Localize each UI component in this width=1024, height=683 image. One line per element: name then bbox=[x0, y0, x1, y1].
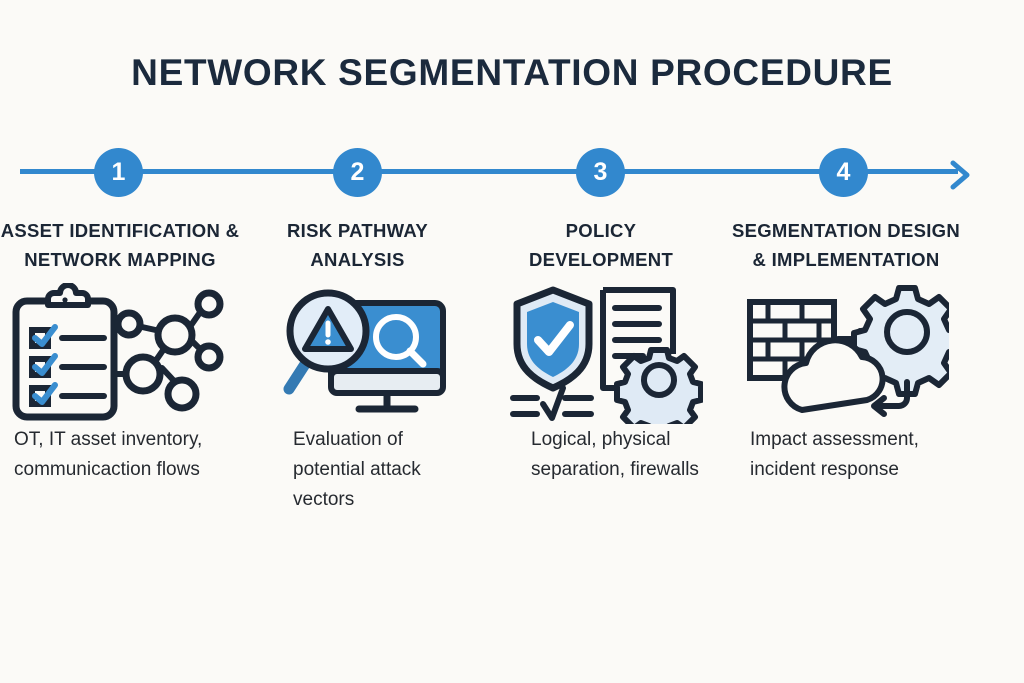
step-description-4: Impact assessment, incident response bbox=[730, 425, 962, 485]
step-marker-3[interactable]: 3 bbox=[576, 148, 625, 197]
step-column-4: SEGMENTATION DESIGN & IMPLEMENTATION bbox=[730, 216, 962, 485]
step-description-3: Logical, physical separation, firewalls bbox=[495, 425, 707, 485]
step-heading-1: ASSET IDENTIFICATION & NETWORK MAPPING bbox=[0, 216, 248, 274]
timeline-line bbox=[20, 169, 958, 174]
timeline: 1 2 3 4 bbox=[0, 160, 1024, 186]
firewall-cloud-gear-icon bbox=[730, 280, 962, 425]
step-marker-4[interactable]: 4 bbox=[819, 148, 868, 197]
step-description-1: OT, IT asset inventory, communicaction f… bbox=[0, 425, 248, 485]
step-description-2: Evaluation of potential attack vectors bbox=[255, 425, 460, 515]
step-heading-3: POLICY DEVELOPMENT bbox=[495, 216, 707, 274]
arrow-right-icon bbox=[948, 172, 978, 195]
step-marker-2[interactable]: 2 bbox=[333, 148, 382, 197]
step-column-1: ASSET IDENTIFICATION & NETWORK MAPPING bbox=[0, 216, 248, 485]
step-heading-4: SEGMENTATION DESIGN & IMPLEMENTATION bbox=[730, 216, 962, 274]
step-number-1: 1 bbox=[112, 160, 126, 185]
step-column-2: RISK PATHWAY ANALYSIS Evaluation of pote… bbox=[255, 216, 460, 515]
step-number-2: 2 bbox=[351, 160, 365, 185]
step-marker-1[interactable]: 1 bbox=[94, 148, 143, 197]
step-heading-2: RISK PATHWAY ANALYSIS bbox=[255, 216, 460, 274]
monitor-magnifier-warning-icon bbox=[255, 280, 460, 425]
page-title: NETWORK SEGMENTATION PROCEDURE bbox=[0, 52, 1024, 94]
shield-document-gear-icon bbox=[495, 280, 707, 425]
step-number-4: 4 bbox=[837, 160, 851, 185]
step-number-3: 3 bbox=[594, 160, 608, 185]
step-column-3: POLICY DEVELOPMENT bbox=[495, 216, 707, 485]
clipboard-checklist-network-icon bbox=[0, 280, 248, 425]
